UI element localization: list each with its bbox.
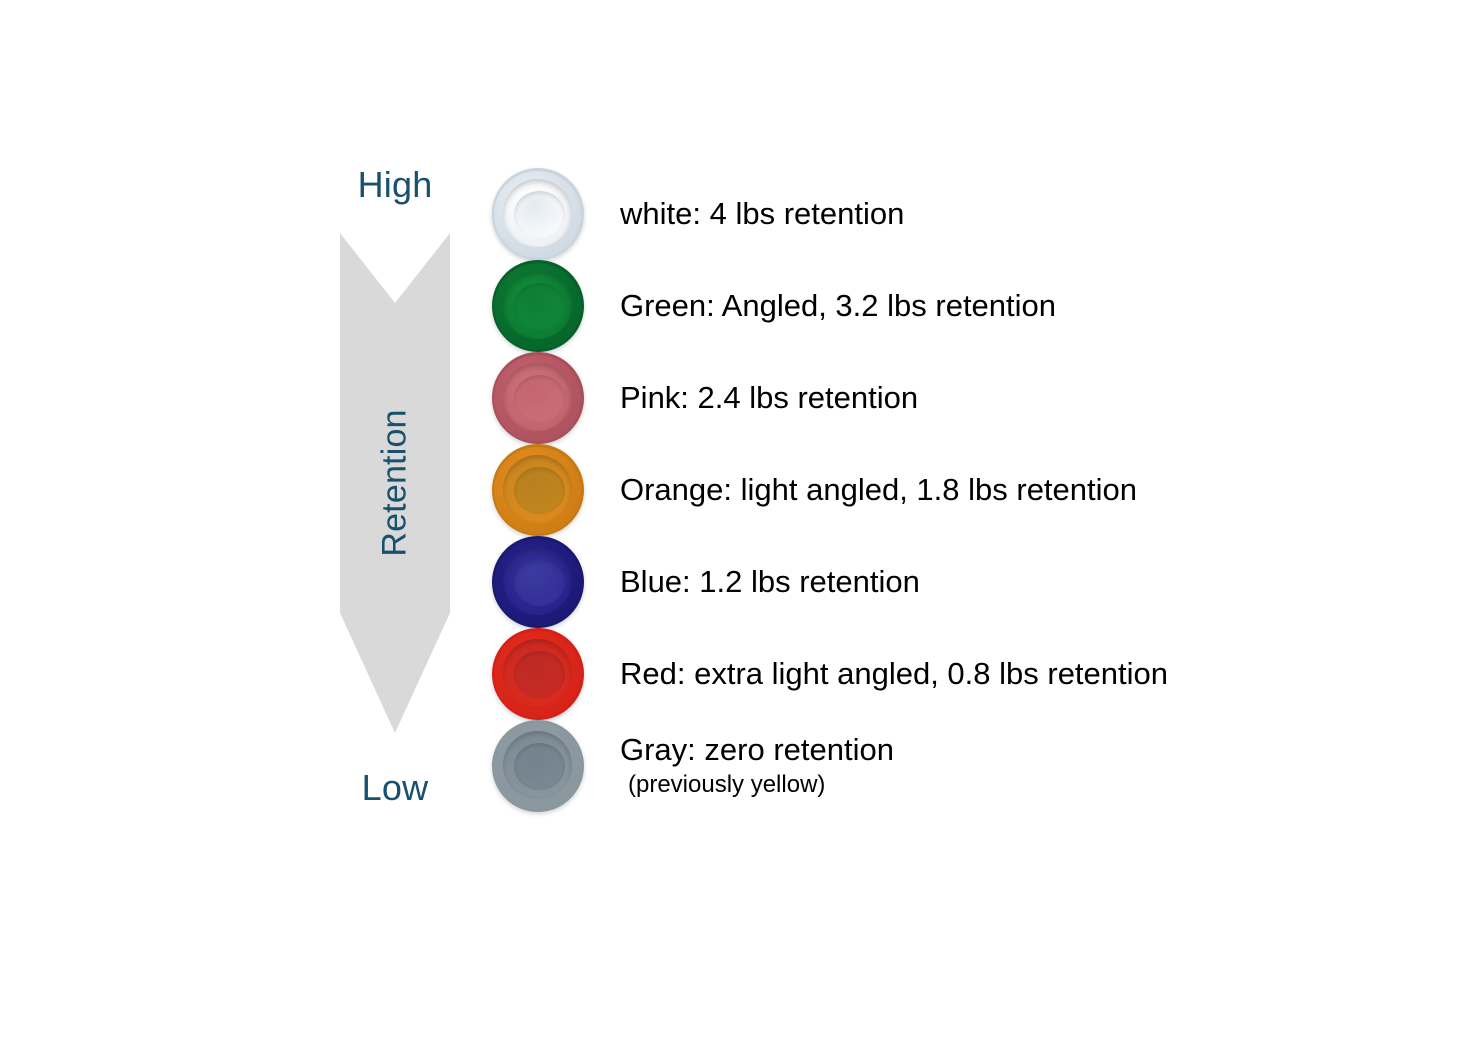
list-item: Pink: 2.4 lbs retention (492, 352, 1392, 444)
cap-swatch-white (492, 168, 584, 260)
legend-text-white: white: 4 lbs retention (620, 168, 904, 260)
list-item: white: 4 lbs retention (492, 168, 1392, 260)
scale-label-high: High (310, 167, 480, 203)
cap-swatch-orange (492, 444, 584, 536)
cap-inner-disc (514, 375, 565, 422)
list-item: Orange: light angled, 1.8 lbs retention (492, 444, 1392, 536)
legend-text-orange: Orange: light angled, 1.8 lbs retention (620, 444, 1137, 536)
cap-inner-disc (514, 191, 565, 238)
cap-inner-disc (514, 559, 565, 606)
cap-inner-disc (514, 283, 565, 330)
legend-label: Pink: 2.4 lbs retention (620, 380, 918, 417)
legend-label: white: 4 lbs retention (620, 196, 904, 233)
legend-label: Gray: zero retention (620, 732, 894, 769)
list-item: Gray: zero retention (previously yellow) (492, 720, 1392, 812)
list-item: Green: Angled, 3.2 lbs retention (492, 260, 1392, 352)
scale-label-low: Low (310, 770, 480, 806)
retention-legend: white: 4 lbs retention Green: Angled, 3.… (492, 168, 1392, 812)
cap-inner-disc (514, 743, 565, 790)
retention-scale: High Retention Low (310, 155, 480, 825)
cap-swatch-gray (492, 720, 584, 812)
legend-label: Red: extra light angled, 0.8 lbs retenti… (620, 656, 1168, 693)
legend-text-red: Red: extra light angled, 0.8 lbs retenti… (620, 628, 1168, 720)
cap-swatch-red (492, 628, 584, 720)
list-item: Blue: 1.2 lbs retention (492, 536, 1392, 628)
legend-text-pink: Pink: 2.4 lbs retention (620, 352, 918, 444)
legend-text-green: Green: Angled, 3.2 lbs retention (620, 260, 1056, 352)
legend-label: Blue: 1.2 lbs retention (620, 564, 920, 601)
legend-sublabel: (previously yellow) (628, 771, 894, 800)
cap-inner-disc (514, 467, 565, 514)
cap-swatch-green (492, 260, 584, 352)
legend-label: Green: Angled, 3.2 lbs retention (620, 288, 1056, 325)
cap-swatch-pink (492, 352, 584, 444)
cap-inner-disc (514, 651, 565, 698)
legend-text-gray: Gray: zero retention (previously yellow) (620, 720, 894, 812)
list-item: Red: extra light angled, 0.8 lbs retenti… (492, 628, 1392, 720)
legend-label: Orange: light angled, 1.8 lbs retention (620, 472, 1137, 509)
cap-swatch-blue (492, 536, 584, 628)
legend-text-blue: Blue: 1.2 lbs retention (620, 536, 920, 628)
down-arrow-icon (310, 233, 480, 733)
